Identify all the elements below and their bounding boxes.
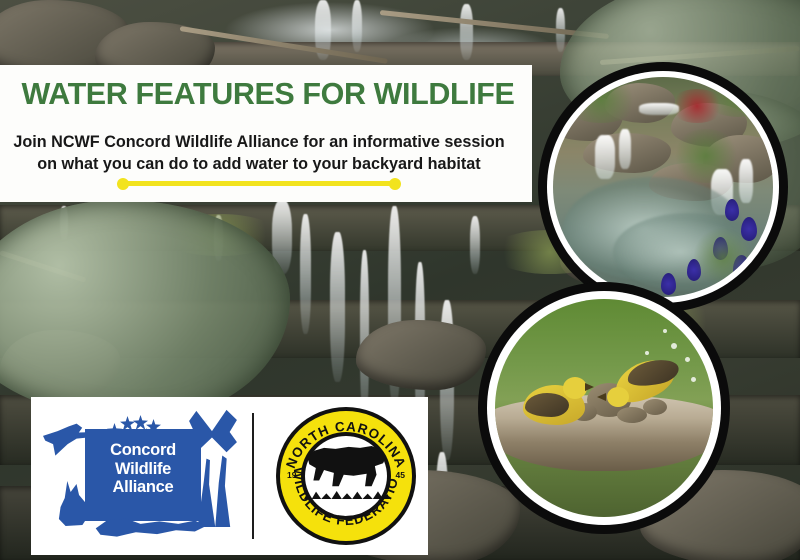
- goldfinch-head: [607, 387, 629, 407]
- photo-circle-garden-pond: [538, 62, 788, 312]
- water-splash: [671, 343, 677, 349]
- logo-line-2: Wildlife: [85, 460, 201, 479]
- goldfinch-wing: [525, 393, 569, 417]
- circle-white-ring: [487, 291, 721, 525]
- water-splash: [685, 357, 690, 362]
- waterfall-stream: [460, 4, 473, 60]
- seal-year-right: 45: [396, 470, 405, 480]
- iris-flower: [661, 273, 676, 295]
- cascade: [739, 159, 753, 203]
- logo-wordmark: Concord Wildlife Alliance: [85, 441, 201, 497]
- shrub: [561, 77, 641, 123]
- waterfall-stream: [470, 216, 480, 274]
- waterfall-stream: [352, 0, 362, 52]
- waterfall-stream: [300, 214, 311, 334]
- cattails-icon: [195, 451, 239, 527]
- logo-line-3: Alliance: [85, 478, 201, 497]
- garden-pond-photo: [553, 77, 773, 297]
- goldfinch-wing: [625, 356, 681, 390]
- cascade: [619, 129, 631, 169]
- decorative-divider: [123, 181, 395, 186]
- seal-year-left: 19: [287, 470, 296, 480]
- shrub: [693, 227, 753, 287]
- rock: [356, 320, 486, 390]
- birdbath-photo: [495, 299, 713, 517]
- concord-wildlife-alliance-logo[interactable]: Concord Wildlife Alliance: [39, 405, 247, 547]
- water-splash: [663, 329, 667, 333]
- iris-flower: [725, 199, 739, 221]
- logo-line-1: Concord: [85, 441, 201, 460]
- photo-circle-birdbath: [478, 282, 730, 534]
- goldfinch-head: [563, 377, 587, 399]
- logo-divider: [252, 413, 254, 539]
- circle-white-ring: [547, 71, 779, 303]
- goldfinch-beak: [585, 383, 594, 391]
- poster-canvas: WATER FEATURES FOR WILDLIFE Join NCWF Co…: [0, 0, 800, 560]
- rhododendron-foliage: [0, 200, 290, 420]
- waterfall-stream: [330, 232, 345, 382]
- logo-panel: Concord Wildlife Alliance 19 45 NO: [31, 397, 428, 555]
- nc-wildlife-federation-logo[interactable]: 19 45 NORTH CAROLINA WILDLIFE FEDERATION: [276, 407, 416, 545]
- subtitle-text: Join NCWF Concord Wildlife Alliance for …: [4, 131, 514, 175]
- debris: [643, 399, 667, 415]
- debris: [617, 407, 647, 423]
- headline-panel: WATER FEATURES FOR WILDLIFE Join NCWF Co…: [0, 65, 532, 202]
- goldfinch-beak: [597, 393, 606, 401]
- page-title: WATER FEATURES FOR WILDLIFE: [18, 77, 518, 112]
- cascade: [639, 103, 679, 115]
- water-splash: [691, 377, 696, 382]
- birdbath-pedestal: [533, 459, 675, 517]
- water-splash: [645, 351, 649, 355]
- cascade: [595, 135, 615, 179]
